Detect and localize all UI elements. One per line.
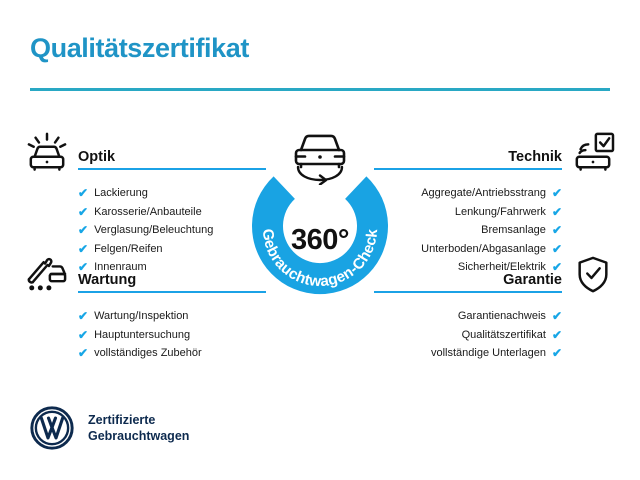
check-icon: ✔ (78, 224, 88, 236)
list-item: ✔Karosserie/Anbauteile (24, 203, 274, 222)
checklist-garantie: ✔Garantienachweis ✔Qualitätszertifikat ✔… (366, 307, 616, 363)
shield-check-icon (570, 255, 616, 295)
list-item-label: Hauptuntersuchung (94, 326, 190, 345)
check-icon: ✔ (78, 329, 88, 341)
car-checkbox-icon (570, 132, 616, 172)
list-item-label: vollständige Unterlagen (431, 344, 546, 363)
section-header-wartung: Wartung (24, 255, 274, 301)
check-icon: ✔ (78, 347, 88, 359)
check-icon: ✔ (78, 310, 88, 322)
check-icon: ✔ (552, 310, 562, 322)
badge-360-gebrauchtwagen-check: Gebrauchtwagen-Check 360° (241, 150, 399, 308)
footer-brand-lockup: Zertifizierte Gebrauchtwagen (30, 406, 189, 450)
list-item: ✔Garantienachweis (366, 307, 616, 326)
list-item-label: Wartung/Inspektion (94, 307, 188, 326)
car-service-icon (24, 255, 70, 295)
section-wartung: Wartung ✔Wartung/Inspektion ✔Hauptunters… (24, 255, 274, 363)
volkswagen-logo (30, 406, 74, 450)
list-item-label: Bremsanlage (481, 221, 546, 240)
check-icon: ✔ (78, 187, 88, 199)
check-icon: ✔ (78, 206, 88, 218)
list-item: ✔Aggregate/Antriebsstrang (366, 184, 616, 203)
check-icon: ✔ (552, 329, 562, 341)
check-icon: ✔ (552, 347, 562, 359)
check-icon: ✔ (78, 243, 88, 255)
list-item: ✔vollständige Unterlagen (366, 344, 616, 363)
section-underline (78, 168, 266, 170)
section-header-optik: Optik (24, 132, 274, 178)
certificate-sheet: Qualitätszertifikat Optik (0, 0, 640, 480)
badge-center-label: 360° (241, 224, 399, 257)
section-underline (78, 291, 266, 293)
car-shine-icon (24, 132, 70, 172)
list-item-label: vollständiges Zubehör (94, 344, 202, 363)
footer-text: Zertifizierte Gebrauchtwagen (88, 412, 189, 444)
list-item: ✔Wartung/Inspektion (24, 307, 274, 326)
car-rotate-icon (282, 123, 358, 185)
list-item: ✔vollständiges Zubehör (24, 344, 274, 363)
list-item: ✔Qualitätszertifikat (366, 326, 616, 345)
section-header-technik: Technik (366, 132, 616, 178)
list-item-label: Verglasung/Beleuchtung (94, 221, 213, 240)
section-heading: Wartung (78, 272, 136, 288)
section-header-garantie: Garantie (366, 255, 616, 301)
page-title: Qualitätszertifikat (30, 33, 249, 64)
section-garantie: Garantie ✔Garantienachweis ✔Qualitätszer… (366, 255, 616, 363)
section-underline (374, 168, 562, 170)
list-item: ✔Lackierung (24, 184, 274, 203)
check-icon: ✔ (552, 224, 562, 236)
list-item: ✔Hauptuntersuchung (24, 326, 274, 345)
list-item-label: Aggregate/Antriebsstrang (421, 184, 546, 203)
title-divider (30, 88, 610, 91)
list-item: ✔Bremsanlage (366, 221, 616, 240)
list-item-label: Qualitätszertifikat (462, 326, 546, 345)
check-icon: ✔ (552, 243, 562, 255)
list-item-label: Karosserie/Anbauteile (94, 203, 202, 222)
check-icon: ✔ (552, 206, 562, 218)
section-heading: Technik (508, 149, 562, 165)
list-item: ✔Verglasung/Beleuchtung (24, 221, 274, 240)
section-heading: Optik (78, 149, 115, 165)
list-item: ✔Lenkung/Fahrwerk (366, 203, 616, 222)
list-item-label: Lenkung/Fahrwerk (455, 203, 546, 222)
list-item-label: Garantienachweis (458, 307, 546, 326)
check-icon: ✔ (552, 187, 562, 199)
checklist-wartung: ✔Wartung/Inspektion ✔Hauptuntersuchung ✔… (24, 307, 274, 363)
section-underline (374, 291, 562, 293)
section-heading: Garantie (503, 272, 562, 288)
list-item-label: Lackierung (94, 184, 148, 203)
